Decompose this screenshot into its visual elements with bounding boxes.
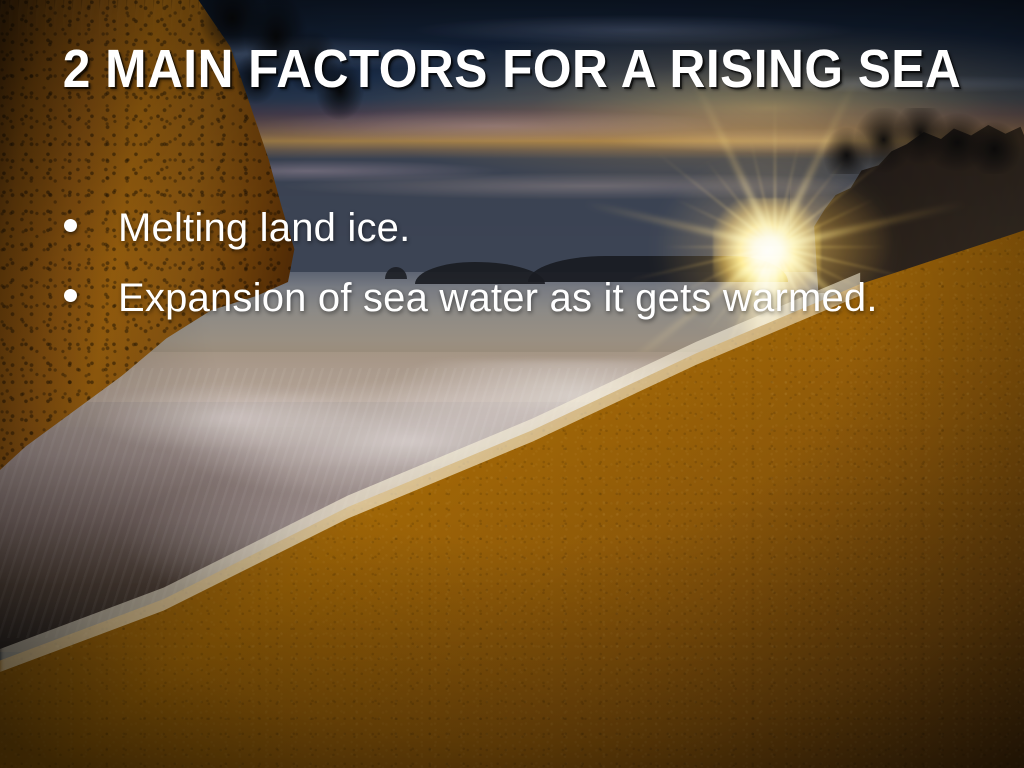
bullet-text: Melting land ice. (118, 206, 410, 250)
presentation-slide: 2 MAIN FACTORS FOR A RISING SEA Melting … (0, 0, 1024, 768)
bullet-dot-icon (64, 289, 77, 302)
slide-title: 2 MAIN FACTORS FOR A RISING SEA (41, 42, 983, 96)
color-grade-overlay (0, 0, 1024, 768)
sand-grain-texture (0, 0, 1024, 768)
surf-water (0, 352, 1024, 652)
bullet-text: Expansion of sea water as it gets warmed… (118, 276, 878, 320)
list-item: Melting land ice. (64, 206, 1004, 250)
list-item: Expansion of sea water as it gets warmed… (64, 276, 1004, 320)
bullet-dot-icon (64, 219, 77, 232)
bullet-list: Melting land ice. Expansion of sea water… (64, 206, 1004, 346)
vignette-overlay (0, 0, 1024, 768)
surf-foam (0, 360, 1024, 650)
headland-trees (818, 108, 1023, 174)
beach-sand (0, 0, 1024, 768)
surf-motion-streaks (0, 368, 1024, 638)
waterline-foam-edge (0, 0, 1024, 768)
